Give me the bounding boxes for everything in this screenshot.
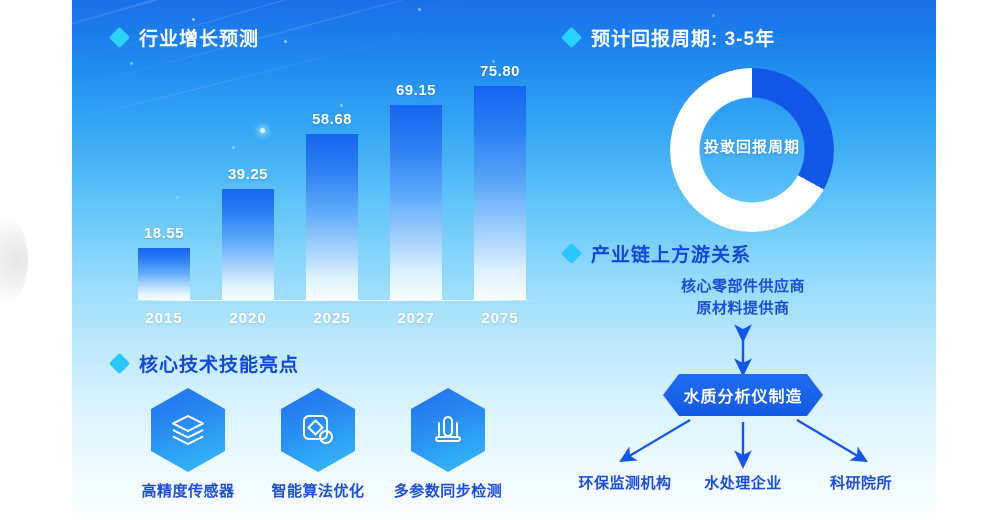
bar-plot-area: 18.5539.2558.6869.1575.80 (122, 60, 542, 300)
chain-downstream-node-3[interactable]: 科研院所 (796, 472, 926, 493)
chain-downstream-node-1[interactable]: 环保监测机构 (560, 472, 690, 493)
bar-value-label: 69.15 (376, 82, 456, 99)
section-heading-payback: 预计回报周期: 3-5年 (564, 24, 775, 51)
page-edge-shadow (0, 212, 28, 308)
skills-group: 高精度传感器 智能算法优化 多参数同步检测 (128, 388, 548, 508)
skill-item-algorithm[interactable]: 智能算法优化 (258, 388, 378, 501)
chain-upstream: 核心零部件供应商 原材料提供商 (623, 276, 863, 320)
diamond-icon (561, 243, 582, 264)
chain-upstream-line-1: 核心零部件供应商 (623, 276, 863, 298)
section-title: 行业增长预测 (139, 24, 259, 51)
bar-column: 58.68 (306, 60, 358, 300)
chart-baseline (122, 300, 542, 301)
bar-value-label: 75.80 (460, 63, 540, 80)
bar-2025 (306, 134, 358, 300)
bar-column: 18.55 (138, 60, 190, 300)
bar-2075 (474, 86, 526, 300)
sensor-probe-icon (411, 388, 485, 472)
section-title: 预计回报周期: 3-5年 (591, 24, 775, 51)
bar-2020 (222, 189, 274, 300)
skill-item-multiparam[interactable]: 多参数同步检测 (388, 388, 508, 501)
bar-category-label: 2025 (292, 310, 372, 327)
chain-core-node[interactable]: 水质分析仪制造 (663, 374, 823, 416)
bar-value-label: 58.68 (292, 111, 372, 128)
bar-column: 75.80 (474, 60, 526, 300)
layers-icon (151, 388, 225, 472)
section-title: 核心技术技能亮点 (139, 350, 299, 377)
skill-item-sensor[interactable]: 高精度传感器 (128, 388, 248, 501)
section-heading-supply-chain: 产业链上方游关系 (564, 240, 751, 267)
section-heading-growth: 行业增长预测 (112, 24, 259, 51)
bar-category-label: 2075 (460, 310, 540, 327)
bar-2015 (138, 248, 190, 300)
section-heading-skills: 核心技术技能亮点 (112, 350, 299, 377)
bar-column: 69.15 (390, 60, 442, 300)
algorithm-optimize-icon (281, 388, 355, 472)
diamond-icon (109, 353, 130, 374)
chain-core-label: 水质分析仪制造 (683, 383, 802, 407)
slide-canvas: 行业增长预测 18.5539.2558.6869.1575.80 2015202… (72, 0, 936, 520)
chain-upstream-line-2: 原材料提供商 (623, 298, 863, 320)
bar-value-label: 39.25 (208, 166, 288, 183)
payback-donut-chart: 投敢回报周期 (670, 68, 834, 232)
bar-2027 (390, 105, 442, 300)
skill-label: 智能算法优化 (258, 480, 378, 501)
skill-label: 高精度传感器 (128, 480, 248, 501)
diamond-icon (561, 27, 582, 48)
skill-label: 多参数同步检测 (388, 480, 508, 501)
growth-bar-chart: 18.5539.2558.6869.1575.80 20152020202520… (122, 60, 542, 325)
bar-category-label: 2015 (124, 310, 204, 327)
bar-value-label: 18.55 (124, 225, 204, 242)
bar-category-label: 2020 (208, 310, 288, 327)
diamond-icon (109, 27, 130, 48)
bar-column: 39.25 (222, 60, 274, 300)
chain-downstream-node-2[interactable]: 水处理企业 (678, 472, 808, 493)
bar-category-label: 2027 (376, 310, 456, 327)
supply-chain-diagram: 核心零部件供应商 原材料提供商 水质分析仪制造 环保监测机构 水处理企业 科研院… (550, 276, 936, 520)
section-title: 产业链上方游关系 (591, 240, 751, 267)
donut-center-label: 投敢回报周期 (660, 136, 844, 157)
